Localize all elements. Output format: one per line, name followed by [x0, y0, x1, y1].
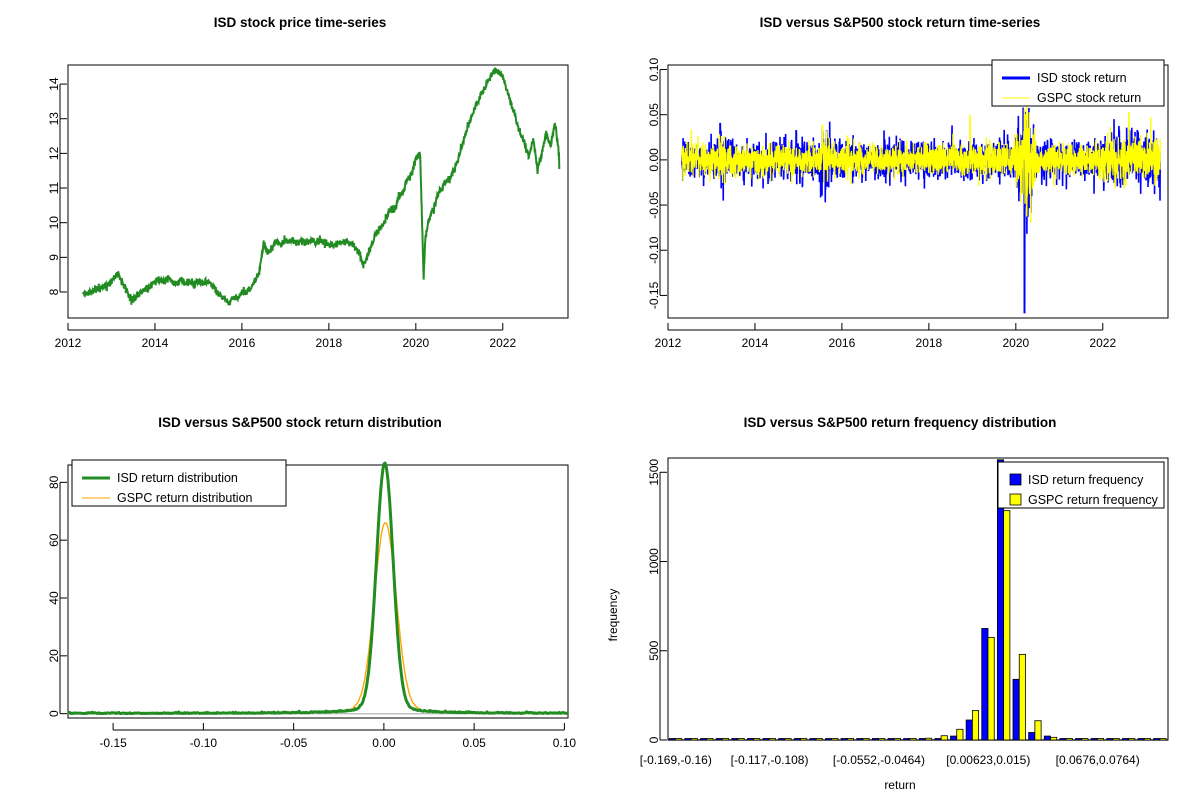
y-tick-label: 40	[47, 591, 61, 605]
panel-title: ISD versus S&P500 stock return distribut…	[158, 415, 442, 430]
x-tick-label: -0.15	[99, 736, 127, 750]
bar	[1113, 739, 1119, 741]
y-tick-label: 10	[47, 216, 61, 230]
y-tick-label: 14	[47, 77, 61, 91]
bar	[982, 628, 988, 740]
axes: 891011121314201220142016201820202022	[47, 65, 568, 350]
bar	[972, 711, 978, 740]
bar	[1129, 739, 1135, 741]
bar	[1019, 654, 1025, 740]
bar	[1091, 739, 1097, 741]
x-tick-label: 2020	[1002, 336, 1029, 350]
y-tick-label: 500	[647, 640, 661, 660]
bar	[888, 739, 894, 741]
data-layer	[682, 105, 1160, 312]
x-tick-label: 2012	[55, 336, 82, 350]
x-tick-label: 2014	[142, 336, 169, 350]
y-tick-label: 12	[47, 146, 61, 160]
x-tick-label: [0.0676,0.0764)	[1056, 753, 1140, 767]
bar	[1107, 739, 1113, 741]
bar	[894, 739, 900, 741]
legend-label: ISD return distribution	[117, 471, 238, 485]
panel-title: ISD versus S&P500 stock return time-seri…	[760, 15, 1041, 30]
bar	[1013, 679, 1019, 740]
x-axis-label: return	[884, 778, 915, 792]
y-tick-label: 80	[47, 475, 61, 489]
density-curve	[68, 523, 568, 714]
bar	[1138, 739, 1144, 741]
bar	[957, 729, 963, 740]
bar	[1029, 733, 1035, 741]
x-tick-label: 2018	[916, 336, 943, 350]
bar	[1060, 739, 1066, 741]
x-tick-label: 2020	[402, 336, 429, 350]
y-tick-label: -0.05	[647, 191, 661, 219]
y-tick-label: 0	[647, 736, 661, 743]
bar	[988, 637, 994, 740]
legend-swatch	[1010, 494, 1021, 505]
y-tick-label: 0.10	[647, 58, 661, 82]
figure-canvas: ISD stock price time-series 891011121314…	[0, 0, 1200, 800]
panel-return-timeseries: ISD versus S&P500 stock return time-seri…	[600, 0, 1200, 400]
x-tick-label: 2022	[1089, 336, 1116, 350]
x-tick-label: 2022	[489, 336, 516, 350]
x-tick-label: 0.00	[372, 736, 396, 750]
bar	[685, 739, 691, 741]
bar	[785, 739, 791, 741]
bar	[826, 739, 832, 741]
bar	[722, 739, 728, 741]
bar	[801, 739, 807, 741]
bar	[779, 739, 785, 741]
bar	[1051, 737, 1057, 740]
bar	[832, 739, 838, 741]
bar	[841, 739, 847, 741]
y-tick-label: 0.05	[647, 103, 661, 127]
bar	[879, 739, 885, 741]
bar	[676, 739, 682, 741]
x-tick-label: 0.10	[553, 736, 577, 750]
bar	[691, 739, 697, 741]
bar	[701, 739, 707, 741]
bar	[1160, 739, 1166, 741]
y-tick-label: 60	[47, 533, 61, 547]
y-axis-label: frequency	[606, 589, 620, 642]
bar	[966, 720, 972, 740]
y-tick-label: 11	[47, 181, 61, 194]
bar	[1154, 739, 1160, 741]
panel-isd-price-timeseries: ISD stock price time-series 891011121314…	[0, 0, 600, 400]
bar	[863, 739, 869, 741]
x-tick-label: 2018	[316, 336, 343, 350]
y-tick-label: 9	[47, 254, 61, 261]
y-tick-label: 1500	[647, 459, 661, 486]
legend-label: GSPC return frequency	[1028, 493, 1159, 507]
bar	[738, 739, 744, 741]
panel-title: ISD versus S&P500 return frequency distr…	[744, 415, 1057, 430]
bar	[769, 739, 775, 741]
y-tick-label: 8	[47, 288, 61, 295]
panel-return-frequency: ISD versus S&P500 return frequency distr…	[600, 400, 1200, 800]
axes: 020406080-0.15-0.10-0.050.000.050.10	[47, 465, 576, 750]
legend-label: GSPC stock return	[1037, 91, 1141, 105]
plot-return-frequency: ISD versus S&P500 return frequency distr…	[600, 400, 1200, 800]
price-line	[83, 68, 559, 306]
bar	[1082, 739, 1088, 741]
data-layer	[83, 68, 559, 306]
legend-label: GSPC return distribution	[117, 491, 253, 505]
bar	[941, 736, 947, 740]
bar	[816, 739, 822, 741]
bar	[754, 739, 760, 741]
bar	[707, 739, 713, 741]
bar	[857, 739, 863, 741]
plot-return-distribution: ISD versus S&P500 stock return distribut…	[0, 400, 600, 800]
legend[interactable]: ISD return frequencyGSPC return frequenc…	[998, 462, 1164, 508]
panel-title: ISD stock price time-series	[214, 15, 387, 30]
x-tick-label: 2016	[229, 336, 256, 350]
bar	[1076, 739, 1082, 741]
bar	[1066, 739, 1072, 741]
x-tick-label: 0.05	[462, 736, 486, 750]
x-tick-label: [-0.169,-0.16)	[640, 753, 712, 767]
bar	[810, 739, 816, 741]
bar	[1144, 739, 1150, 741]
plot-return-timeseries: ISD versus S&P500 stock return time-seri…	[600, 0, 1200, 400]
bar	[747, 739, 753, 741]
legend[interactable]: ISD stock returnGSPC stock return	[992, 60, 1164, 106]
y-tick-label: 0	[47, 710, 61, 717]
x-tick-label: -0.10	[190, 736, 218, 750]
x-tick-label: 2016	[829, 336, 856, 350]
bar	[669, 739, 675, 741]
bar	[910, 739, 916, 741]
bar	[763, 739, 769, 741]
bar	[1044, 736, 1050, 740]
bar	[919, 739, 925, 741]
bar	[926, 738, 932, 740]
legend-label: ISD return frequency	[1028, 473, 1144, 487]
bar	[732, 739, 738, 741]
plot-isd-price-timeseries: ISD stock price time-series 891011121314…	[0, 0, 600, 400]
bar	[872, 739, 878, 741]
x-tick-label: [-0.0552,-0.0464)	[833, 753, 925, 767]
legend-swatch	[1010, 474, 1021, 485]
y-tick-label: 0.00	[647, 148, 661, 172]
plot-frame	[68, 65, 568, 318]
bar	[794, 739, 800, 741]
x-tick-label: 2012	[655, 336, 682, 350]
y-tick-label: -0.10	[647, 236, 661, 264]
y-tick-label: -0.15	[647, 281, 661, 309]
bar	[1004, 511, 1010, 740]
return-line	[682, 108, 1160, 313]
y-tick-label: 20	[47, 649, 61, 663]
legend[interactable]: ISD return distributionGSPC return distr…	[72, 460, 286, 506]
x-tick-label: -0.05	[280, 736, 308, 750]
legend-label: ISD stock return	[1037, 71, 1127, 85]
bar	[951, 736, 957, 740]
x-tick-label: [-0.117,-0.108)	[731, 753, 809, 767]
x-tick-label: [0.00623,0.015)	[946, 753, 1030, 767]
x-tick-label: 2014	[742, 336, 769, 350]
y-tick-label: 1000	[647, 548, 661, 575]
bar	[1035, 721, 1041, 740]
panel-return-distribution: ISD versus S&P500 stock return distribut…	[0, 400, 600, 800]
bar	[847, 739, 853, 741]
bar	[1122, 739, 1128, 741]
y-tick-label: 13	[47, 112, 61, 126]
bar	[904, 739, 910, 741]
bar	[716, 739, 722, 741]
bar	[1097, 739, 1103, 741]
bar	[935, 739, 941, 741]
